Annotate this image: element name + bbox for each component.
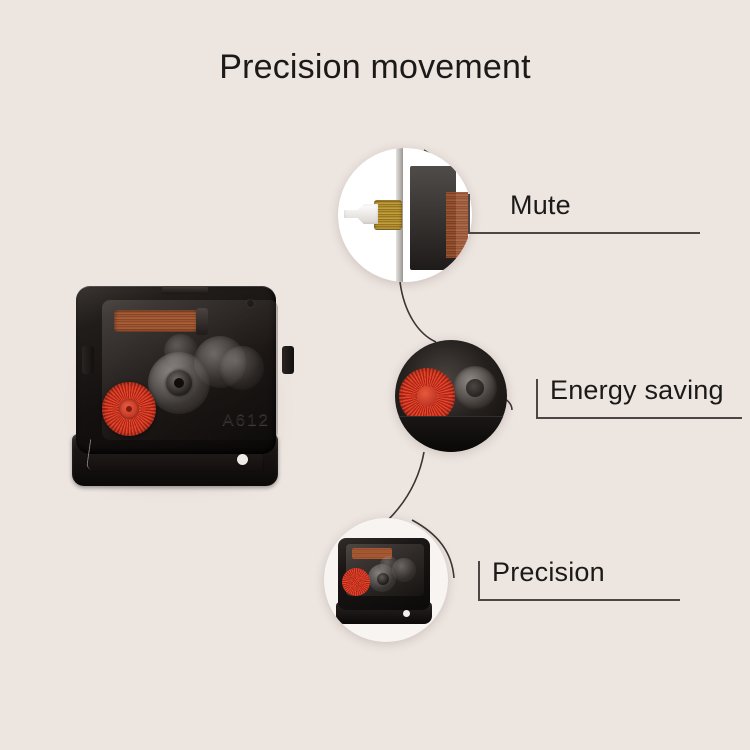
callout-precision-hub [377, 573, 389, 585]
callout-mute-copper-coil [446, 192, 468, 258]
label-energy-rule-vertical [536, 379, 538, 419]
infographic-canvas: Precision movement A612 [0, 0, 750, 750]
page-title: Precision movement [0, 48, 750, 87]
movement-housing: A612 [76, 286, 276, 454]
housing-marking-text: A612 [222, 410, 270, 430]
label-mute-text: Mute [510, 190, 571, 221]
callout-precision-dot [403, 610, 410, 617]
base-indicator-dot [237, 454, 248, 465]
connector-mute-to-energy [400, 282, 436, 342]
callout-energy-base-ledge [395, 416, 507, 452]
label-energy-rule-horizontal [536, 417, 742, 419]
callout-energy-drive-gear [453, 366, 497, 410]
gear-tertiary [220, 346, 264, 390]
housing-tab-left [82, 346, 94, 374]
housing-top-nub [162, 286, 208, 294]
callout-circle-precision [324, 518, 448, 642]
callout-precision-red-wheel [342, 568, 370, 596]
connector-energy-to-precision [388, 452, 424, 520]
label-energy-text: Energy saving [550, 375, 724, 406]
red-adjustment-wheel [102, 382, 156, 436]
callout-mute-white-shaft [344, 204, 378, 224]
gear-center-hub [166, 370, 192, 396]
label-precision-rule-horizontal [478, 599, 680, 601]
callout-mute-brass-thread [374, 200, 402, 230]
label-precision-rule-vertical [478, 561, 480, 601]
coil-core-cap [196, 308, 208, 335]
housing-tab-right [282, 346, 294, 374]
callout-circle-energy-saving [395, 340, 507, 452]
product-image-clock-movement: A612 [62, 282, 294, 494]
label-mute-rule-horizontal [468, 232, 700, 234]
label-precision-text: Precision [492, 557, 605, 588]
callout-precision-housing [338, 538, 430, 610]
label-mute-rule-vertical [468, 194, 470, 234]
copper-coil [114, 310, 198, 332]
callout-circle-mute [338, 148, 472, 282]
